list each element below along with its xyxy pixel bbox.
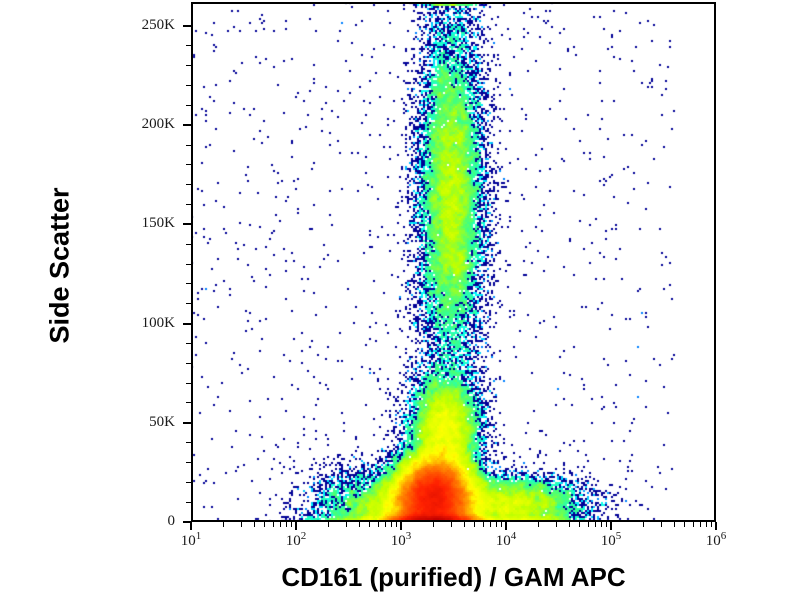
x-axis-minor-tick <box>433 522 434 527</box>
x-axis-minor-tick <box>601 522 602 527</box>
x-axis-tick-label: 102 <box>266 533 326 550</box>
x-axis-minor-tick <box>711 522 712 527</box>
flow-cytometry-figure: Side Scatter 050K100K150K200K250K 101102… <box>0 0 800 600</box>
x-axis-minor-tick <box>490 522 491 527</box>
x-axis-minor-tick <box>328 522 329 527</box>
density-scatter-plot <box>191 2 716 522</box>
x-axis-minor-tick <box>674 522 675 527</box>
y-axis-tick-label: 200K <box>0 116 175 133</box>
x-axis-minor-tick <box>501 522 502 527</box>
x-axis-minor-tick <box>391 522 392 527</box>
y-axis-major-tick <box>183 25 191 27</box>
x-axis-minor-tick <box>606 522 607 527</box>
x-axis-minor-tick <box>286 522 287 527</box>
x-axis-minor-tick <box>346 522 347 527</box>
x-axis-minor-tick <box>464 522 465 527</box>
x-axis-minor-tick <box>706 522 707 527</box>
x-axis-minor-tick <box>693 522 694 527</box>
x-axis-minor-tick <box>569 522 570 527</box>
x-axis-minor-tick <box>496 522 497 527</box>
x-axis-minor-tick <box>700 522 701 527</box>
y-axis-tick-label: 100K <box>0 315 175 332</box>
x-axis-major-tick <box>295 522 297 530</box>
y-axis-tick-label: 50K <box>0 414 175 431</box>
x-axis-minor-tick <box>556 522 557 527</box>
x-axis-tick-label: 101 <box>161 533 221 550</box>
x-axis-minor-tick <box>378 522 379 527</box>
x-axis-minor-tick <box>588 522 589 527</box>
y-axis-major-tick <box>183 124 191 126</box>
x-axis-minor-tick <box>451 522 452 527</box>
y-axis-major-tick <box>183 223 191 225</box>
x-axis-tick-label: 106 <box>686 533 746 550</box>
y-axis-major-tick <box>183 323 191 325</box>
x-axis-tick-label: 105 <box>581 533 641 550</box>
x-axis-minor-tick <box>538 522 539 527</box>
x-axis-minor-tick <box>291 522 292 527</box>
x-axis-minor-tick <box>474 522 475 527</box>
x-axis-minor-tick <box>359 522 360 527</box>
x-axis-minor-tick <box>254 522 255 527</box>
x-axis-minor-tick <box>223 522 224 527</box>
y-axis-major-tick <box>183 422 191 424</box>
x-axis-minor-tick <box>264 522 265 527</box>
x-axis-minor-tick <box>385 522 386 527</box>
x-axis-minor-tick <box>483 522 484 527</box>
y-axis-tick-label: 150K <box>0 215 175 232</box>
x-axis-minor-tick <box>280 522 281 527</box>
x-axis-minor-tick <box>643 522 644 527</box>
x-axis-major-tick <box>400 522 402 530</box>
x-axis-minor-tick <box>369 522 370 527</box>
x-axis-major-tick <box>505 522 507 530</box>
y-axis-tick-label: 0 <box>0 513 175 530</box>
x-axis-minor-tick <box>396 522 397 527</box>
x-axis-title: CD161 (purified) / GAM APC <box>191 562 716 593</box>
x-axis-minor-tick <box>273 522 274 527</box>
x-axis-minor-tick <box>684 522 685 527</box>
x-axis-major-tick <box>715 522 717 530</box>
x-axis-tick-label: 104 <box>476 533 536 550</box>
y-axis-tick-label: 250K <box>0 17 175 34</box>
x-axis-major-tick <box>190 522 192 530</box>
x-axis-minor-tick <box>241 522 242 527</box>
x-axis-tick-label: 103 <box>371 533 431 550</box>
y-axis-title: Side Scatter <box>45 116 76 416</box>
x-axis-minor-tick <box>579 522 580 527</box>
x-axis-minor-tick <box>595 522 596 527</box>
x-axis-major-tick <box>610 522 612 530</box>
x-axis-minor-tick <box>661 522 662 527</box>
